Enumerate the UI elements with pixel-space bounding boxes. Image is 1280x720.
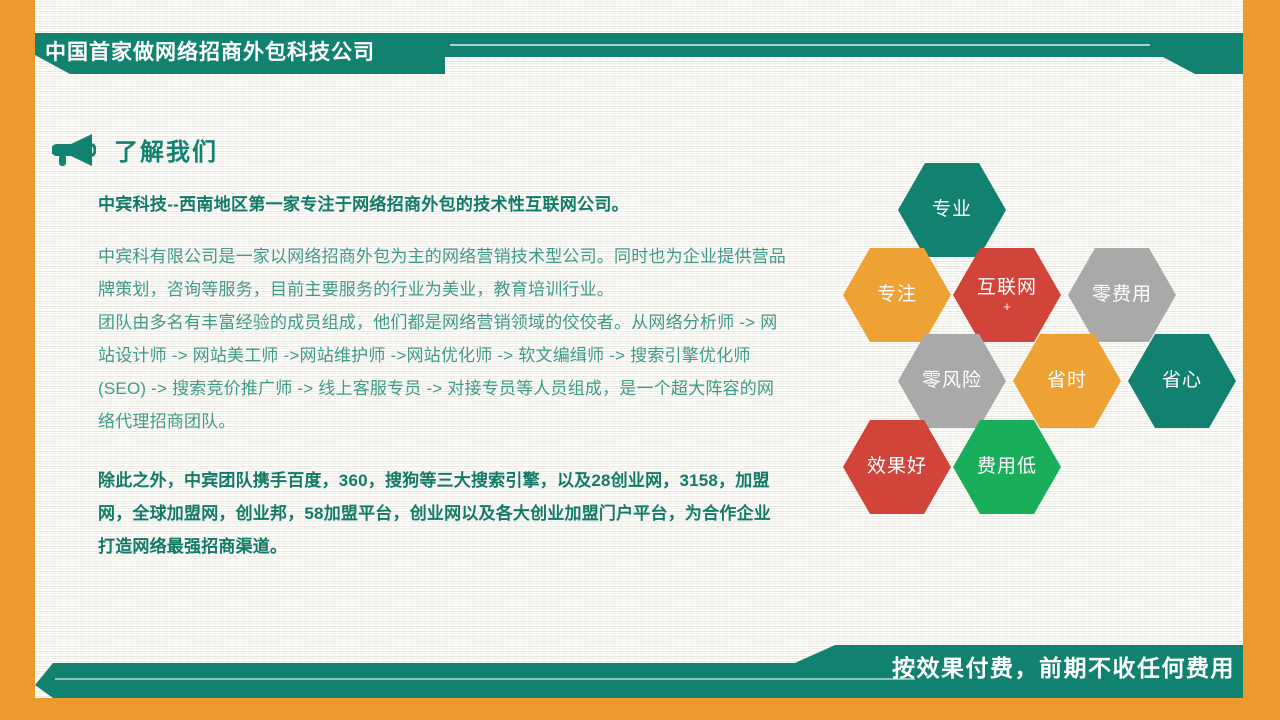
section-title: 了解我们 bbox=[114, 132, 218, 167]
footer-hairline-divider bbox=[55, 678, 915, 680]
hexagon-1: 专业 bbox=[898, 163, 1006, 257]
hexagon-cluster: 专业专注互联网+零费用零风险省时省心效果好费用低 bbox=[840, 160, 1240, 530]
hexagon-4: 零费用 bbox=[1068, 248, 1176, 342]
hexagon-label: 费用低 bbox=[977, 456, 1037, 478]
hexagon-label: 省心 bbox=[1162, 370, 1202, 392]
page-title: 中国首家做网络招商外包科技公司 bbox=[45, 36, 375, 70]
body-paragraph-1: 中宾科有限公司是一家以网络招商外包为主的网络营销技术型公司。同时也为企业提供营品… bbox=[98, 240, 788, 306]
body-lede: 中宾科技--西南地区第一家专注于网络招商外包的技术性互联网公司。 bbox=[98, 192, 788, 218]
megaphone-icon bbox=[52, 133, 96, 167]
header-hairline-divider bbox=[450, 44, 1150, 46]
hexagon-6: 省时 bbox=[1013, 334, 1121, 428]
hexagon-7: 省心 bbox=[1128, 334, 1236, 428]
hexagon-sublabel: + bbox=[1003, 300, 1011, 314]
section-heading: 了解我们 bbox=[52, 132, 218, 167]
hexagon-label: 省时 bbox=[1047, 370, 1087, 392]
body-copy: 中宾科技--西南地区第一家专注于网络招商外包的技术性互联网公司。 中宾科有限公司… bbox=[98, 192, 788, 563]
hexagon-8: 效果好 bbox=[843, 420, 951, 514]
hexagon-2: 专注 bbox=[843, 248, 951, 342]
hexagon-label: 互联网 bbox=[977, 277, 1037, 299]
slide-canvas: 中国首家做网络招商外包科技公司 了解我们 中宾科技--西南地区第一家专注于网络招… bbox=[0, 0, 1280, 720]
hexagon-label: 专注 bbox=[877, 284, 917, 306]
body-paragraph-2: 团队由多名有丰富经验的成员组成，他们都是网络营销领域的佼佼者。从网络分析师 ->… bbox=[98, 306, 788, 438]
body-closing: 除此之外，中宾团队携手百度，360，搜狗等三大搜索引擎，以及28创业网，3158… bbox=[98, 464, 788, 563]
hexagon-label: 效果好 bbox=[867, 456, 927, 478]
hexagon-label: 专业 bbox=[932, 199, 972, 221]
footer-tagline: 按效果付费，前期不收任何费用 bbox=[892, 648, 1235, 688]
hexagon-label: 零费用 bbox=[1092, 284, 1152, 306]
hexagon-5: 零风险 bbox=[898, 334, 1006, 428]
hexagon-label: 零风险 bbox=[922, 370, 982, 392]
hexagon-3: 互联网+ bbox=[953, 248, 1061, 342]
hexagon-9: 费用低 bbox=[953, 420, 1061, 514]
